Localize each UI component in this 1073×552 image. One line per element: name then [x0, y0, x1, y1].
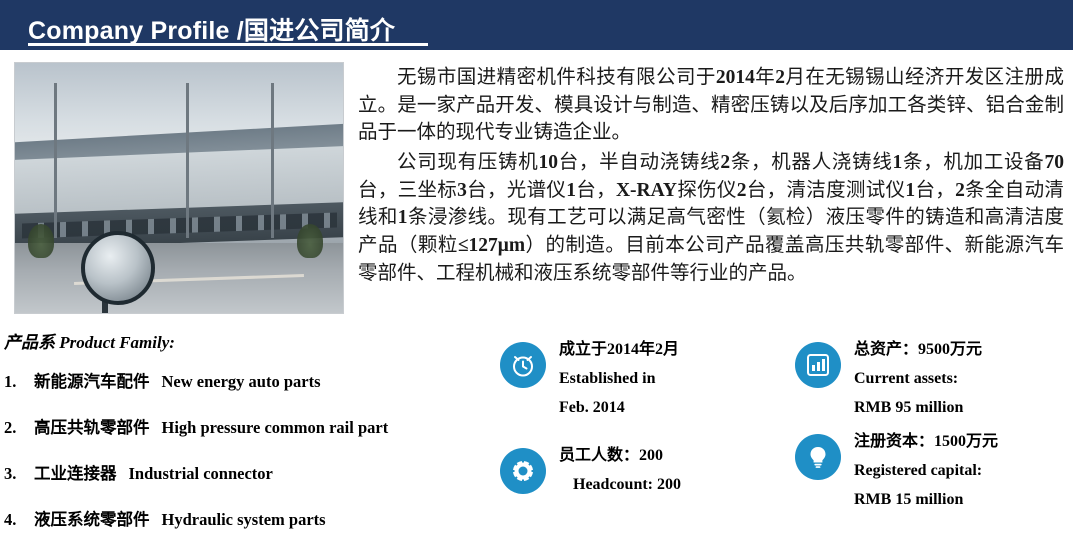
fact-line: RMB 95 million [854, 400, 982, 416]
page-title: Company Profile /国进公司简介 [28, 11, 395, 47]
list-item-number: 4. [4, 510, 34, 530]
fact-line: 总资产：9500万元 [854, 342, 982, 358]
list-item-number: 2. [4, 418, 34, 438]
intro-p2-seg5: 台，三坐标 [358, 180, 457, 201]
intro-p2-v7: 2 [737, 180, 747, 201]
photo-pole-left [54, 83, 57, 238]
intro-p2-v9: 2 [955, 180, 965, 201]
list-item: 2. 高压共轨零部件 High pressure common rail par… [4, 414, 494, 438]
fact-line: Headcount: 200 [559, 477, 681, 493]
gear-icon [500, 448, 546, 494]
intro-paragraph-2: 公司现有压铸机10台，半自动浇铸线2条，机器人浇铸线1条，机加工设备70台，三坐… [358, 149, 1064, 287]
photo-convex-mirror [81, 231, 155, 305]
list-item-label-cn: 工业连接器 [34, 460, 117, 484]
intro-p2-seg7: 台， [576, 180, 616, 201]
fact-headcount-text: 员工人数：200 Headcount: 200 [559, 448, 681, 493]
list-item-label-en: New energy auto parts [162, 372, 321, 392]
list-item-label-en: Hydraulic system parts [162, 510, 326, 530]
photo-pole-mid [186, 83, 189, 238]
intro-p1-seg1: 无锡市国进精密机件科技有限公司于 [397, 67, 716, 88]
company-intro-text: 无锡市国进精密机件科技有限公司于2014年2月在无锡锡山经济开发区注册成立。是一… [358, 64, 1064, 290]
intro-p2-seg2: 台，半自动浇铸线 [558, 152, 720, 173]
intro-p2-seg1: 公司现有压铸机 [397, 152, 538, 173]
intro-p2-v3: 1 [893, 152, 903, 173]
alarm-clock-icon [500, 342, 546, 388]
photo-tree-1 [28, 224, 54, 258]
factory-building-photo [14, 62, 344, 314]
lightbulb-icon [795, 434, 841, 480]
fact-established-text: 成立于2014年2月 Established in Feb. 2014 [559, 342, 679, 416]
intro-p2-seg8: 探伤仪 [677, 180, 737, 201]
intro-p2-seg6: 台，光谱仪 [467, 180, 566, 201]
fact-line: Current assets: [854, 371, 982, 387]
list-item-label-cn: 新能源汽车配件 [34, 368, 150, 392]
fact-current-assets: 总资产：9500万元 Current assets: RMB 95 millio… [795, 342, 982, 416]
intro-p2-v5: 3 [457, 180, 467, 201]
list-item: 4. 液压系统零部件 Hydraulic system parts [4, 506, 494, 530]
intro-p1-seg2: 年 [755, 67, 775, 88]
intro-p1-month: 2 [775, 67, 785, 88]
intro-p2-seg4: 条，机加工设备 [902, 152, 1044, 173]
photo-tree-2 [297, 224, 323, 258]
fact-established: 成立于2014年2月 Established in Feb. 2014 [500, 342, 679, 416]
intro-p2-v10: 1 [398, 207, 408, 228]
fact-line: 员工人数：200 [559, 448, 681, 464]
fact-line: Feb. 2014 [559, 400, 679, 416]
list-item-label-en: High pressure common rail part [162, 418, 389, 438]
list-item-number: 3. [4, 464, 34, 484]
intro-p2-xray: X-RAY [616, 180, 677, 201]
product-family-list: 1. 新能源汽车配件 New energy auto parts 2. 高压共轨… [4, 368, 494, 552]
fact-line: 成立于2014年2月 [559, 342, 679, 358]
photo-pole-right [271, 83, 274, 238]
list-item-label-en: Industrial connector [129, 464, 273, 484]
intro-p2-v6: 1 [566, 180, 576, 201]
product-family-title: 产品系 Product Family: [4, 328, 175, 353]
intro-p2-particle: ≤127μm [458, 235, 525, 256]
intro-p2-v1: 10 [538, 152, 558, 173]
fact-registered-capital-text: 注册资本：1500万元 Registered capital: RMB 15 m… [854, 434, 998, 508]
intro-p2-v4: 70 [1044, 152, 1064, 173]
fact-line: Established in [559, 371, 679, 387]
list-item-label-cn: 高压共轨零部件 [34, 414, 150, 438]
intro-p2-v2: 2 [720, 152, 730, 173]
fact-registered-capital: 注册资本：1500万元 Registered capital: RMB 15 m… [795, 434, 998, 508]
intro-p2-seg3: 条，机器人浇铸线 [730, 152, 892, 173]
list-item-label-cn: 液压系统零部件 [34, 506, 150, 530]
intro-p2-seg10: 台， [915, 180, 955, 201]
fact-current-assets-text: 总资产：9500万元 Current assets: RMB 95 millio… [854, 342, 982, 416]
intro-paragraph-1: 无锡市国进精密机件科技有限公司于2014年2月在无锡锡山经济开发区注册成立。是一… [358, 64, 1064, 147]
title-underline [28, 43, 428, 46]
list-item-number: 1. [4, 372, 34, 392]
intro-p1-year: 2014 [716, 67, 755, 88]
fact-headcount: 员工人数：200 Headcount: 200 [500, 448, 681, 494]
fact-line: Registered capital: [854, 463, 998, 479]
fact-line: 注册资本：1500万元 [854, 434, 998, 450]
intro-p2-v8: 1 [905, 180, 915, 201]
intro-p2-seg9: 台，清洁度测试仪 [747, 180, 906, 201]
list-item: 3. 工业连接器 Industrial connector [4, 460, 494, 484]
list-item: 1. 新能源汽车配件 New energy auto parts [4, 368, 494, 392]
fact-line: RMB 15 million [854, 492, 998, 508]
bar-chart-icon [795, 342, 841, 388]
